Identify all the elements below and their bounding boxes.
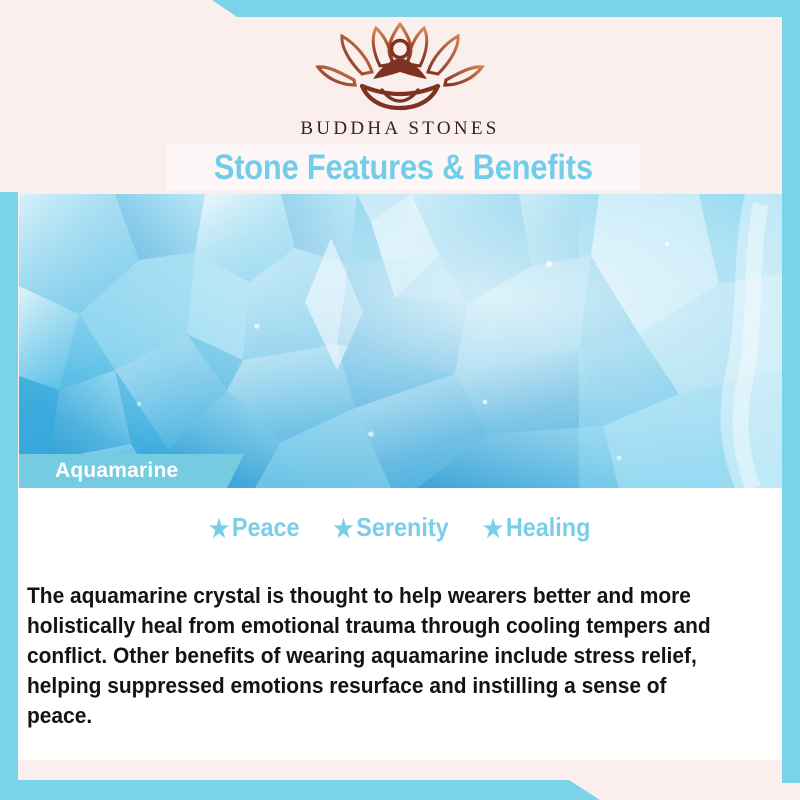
stone-photo	[19, 194, 782, 488]
keyword-healing: ★Healing	[483, 512, 590, 544]
star-icon: ★	[333, 515, 353, 543]
brand-logo: BUDDHA STONES	[0, 22, 800, 140]
keyword-peace: ★Peace	[209, 512, 300, 544]
lotus-meditation-icon	[310, 22, 490, 114]
keyword-label: Peace	[231, 512, 299, 542]
star-icon: ★	[209, 515, 229, 543]
poster-canvas: BUDDHA STONES Stone Features & Benefits	[0, 0, 800, 800]
decor-frame-bottom-band	[0, 780, 600, 800]
content-panel: ★Peace ★Serenity ★Healing The aquamarine…	[18, 488, 782, 760]
decor-frame-left-strip	[0, 192, 18, 800]
brand-wordmark: BUDDHA STONES	[0, 118, 800, 140]
keyword-row: ★Peace ★Serenity ★Healing	[18, 512, 782, 544]
decor-frame-top-band	[206, 0, 800, 17]
stone-name-ribbon: Aquamarine	[19, 454, 244, 488]
aquamarine-crystal-image	[19, 194, 782, 488]
page-title: Stone Features & Benefits	[214, 150, 593, 185]
stone-description: The aquamarine crystal is thought to hel…	[27, 581, 715, 731]
stone-name: Aquamarine	[55, 459, 178, 483]
keyword-label: Healing	[506, 512, 591, 542]
star-icon: ★	[483, 515, 503, 543]
keyword-label: Serenity	[356, 512, 448, 542]
page-title-band: Stone Features & Benefits	[166, 144, 640, 190]
keyword-serenity: ★Serenity	[333, 512, 448, 544]
